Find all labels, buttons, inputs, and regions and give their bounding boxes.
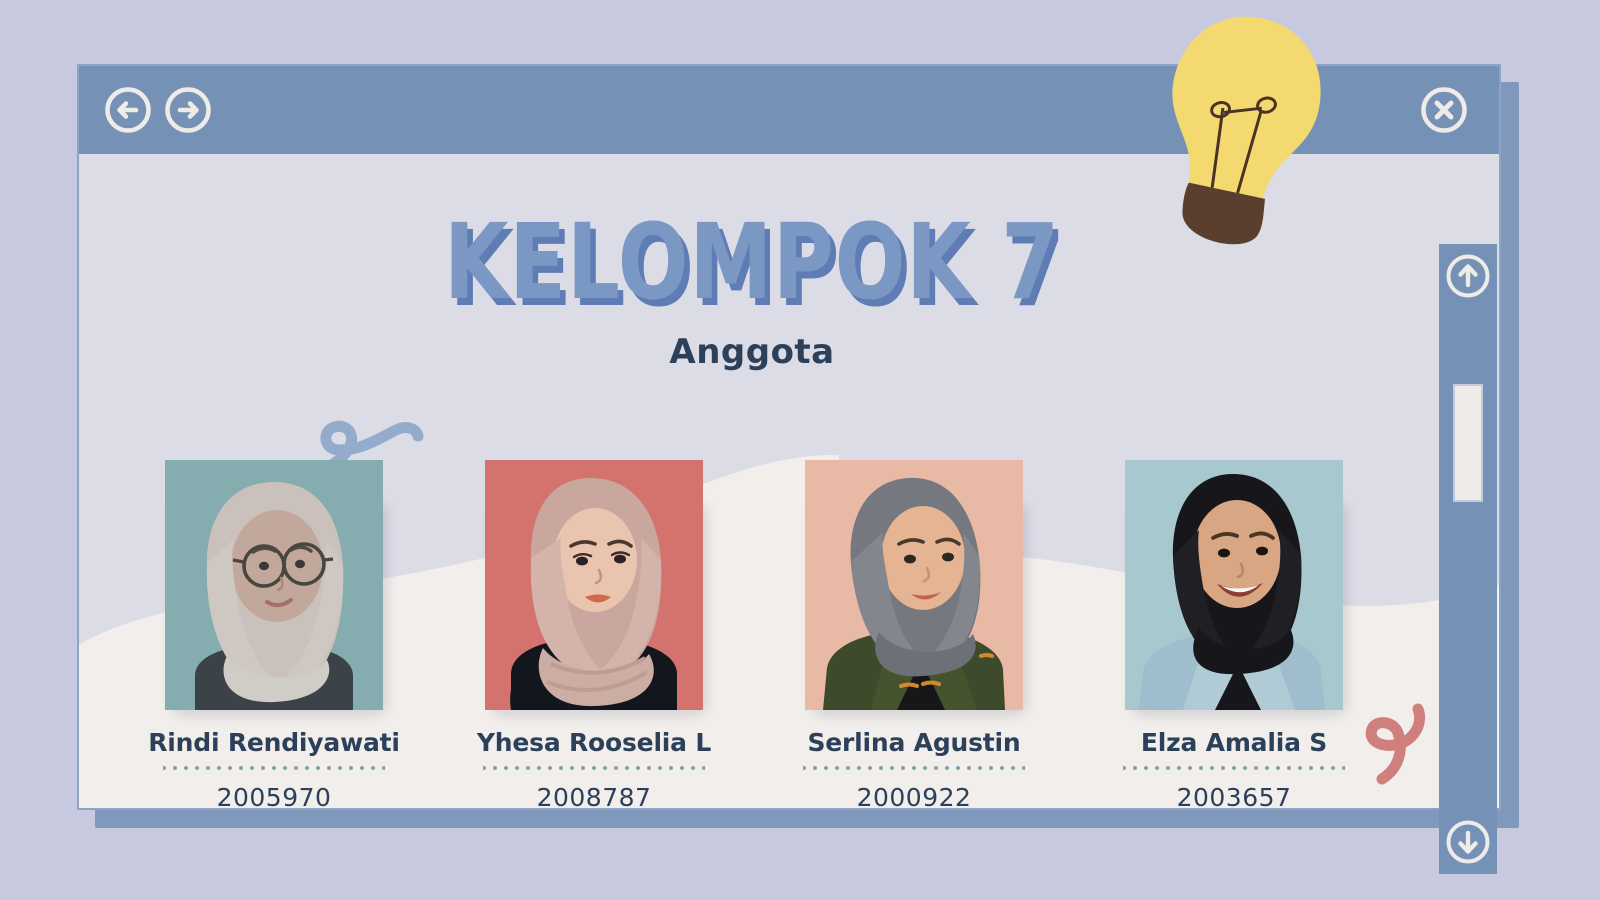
close-icon[interactable] — [1419, 85, 1469, 135]
heading-block: KELOMPOK 7 Anggota — [79, 154, 1425, 372]
member-card[interactable]: Rindi Rendiyawati 2005970 — [149, 494, 399, 808]
name-divider — [483, 765, 705, 771]
member-id: 2003657 — [1177, 783, 1292, 808]
member-list: Rindi Rendiyawati 2005970 — [149, 494, 1359, 808]
scroll-up-icon[interactable] — [1443, 251, 1493, 301]
member-photo — [485, 494, 703, 710]
member-card[interactable]: Yhesa Rooselia L 2008787 — [469, 494, 719, 808]
member-id: 2005970 — [217, 783, 332, 808]
window-content: KELOMPOK 7 Anggota — [79, 154, 1499, 808]
name-divider — [803, 765, 1025, 771]
member-id: 2000922 — [857, 783, 972, 808]
browser-window: KELOMPOK 7 Anggota — [77, 64, 1501, 810]
page-title: KELOMPOK 7 — [214, 154, 1291, 314]
member-name: Elza Amalia S — [1141, 728, 1327, 757]
member-card[interactable]: Elza Amalia S 2003657 — [1109, 494, 1359, 808]
scrollbar-thumb[interactable] — [1453, 384, 1483, 502]
member-name: Rindi Rendiyawati — [148, 728, 400, 757]
navigation-button-group — [103, 85, 213, 135]
page-background: KELOMPOK 7 Anggota — [0, 0, 1600, 900]
page-subtitle: Anggota — [79, 314, 1425, 372]
member-photo — [1125, 494, 1343, 710]
name-divider — [1123, 765, 1345, 771]
member-card[interactable]: Serlina Agustin 2000922 — [789, 494, 1039, 808]
member-photo — [805, 494, 1023, 710]
member-name: Serlina Agustin — [807, 728, 1020, 757]
window-titlebar — [79, 66, 1499, 154]
vertical-scrollbar[interactable] — [1439, 244, 1497, 874]
member-name: Yhesa Rooselia L — [477, 728, 711, 757]
member-id: 2008787 — [537, 783, 652, 808]
name-divider — [163, 765, 385, 771]
back-icon[interactable] — [103, 85, 153, 135]
squiggle-doodle-icon — [1354, 699, 1434, 789]
scroll-down-icon[interactable] — [1443, 817, 1493, 867]
member-photo — [165, 494, 383, 710]
forward-icon[interactable] — [163, 85, 213, 135]
